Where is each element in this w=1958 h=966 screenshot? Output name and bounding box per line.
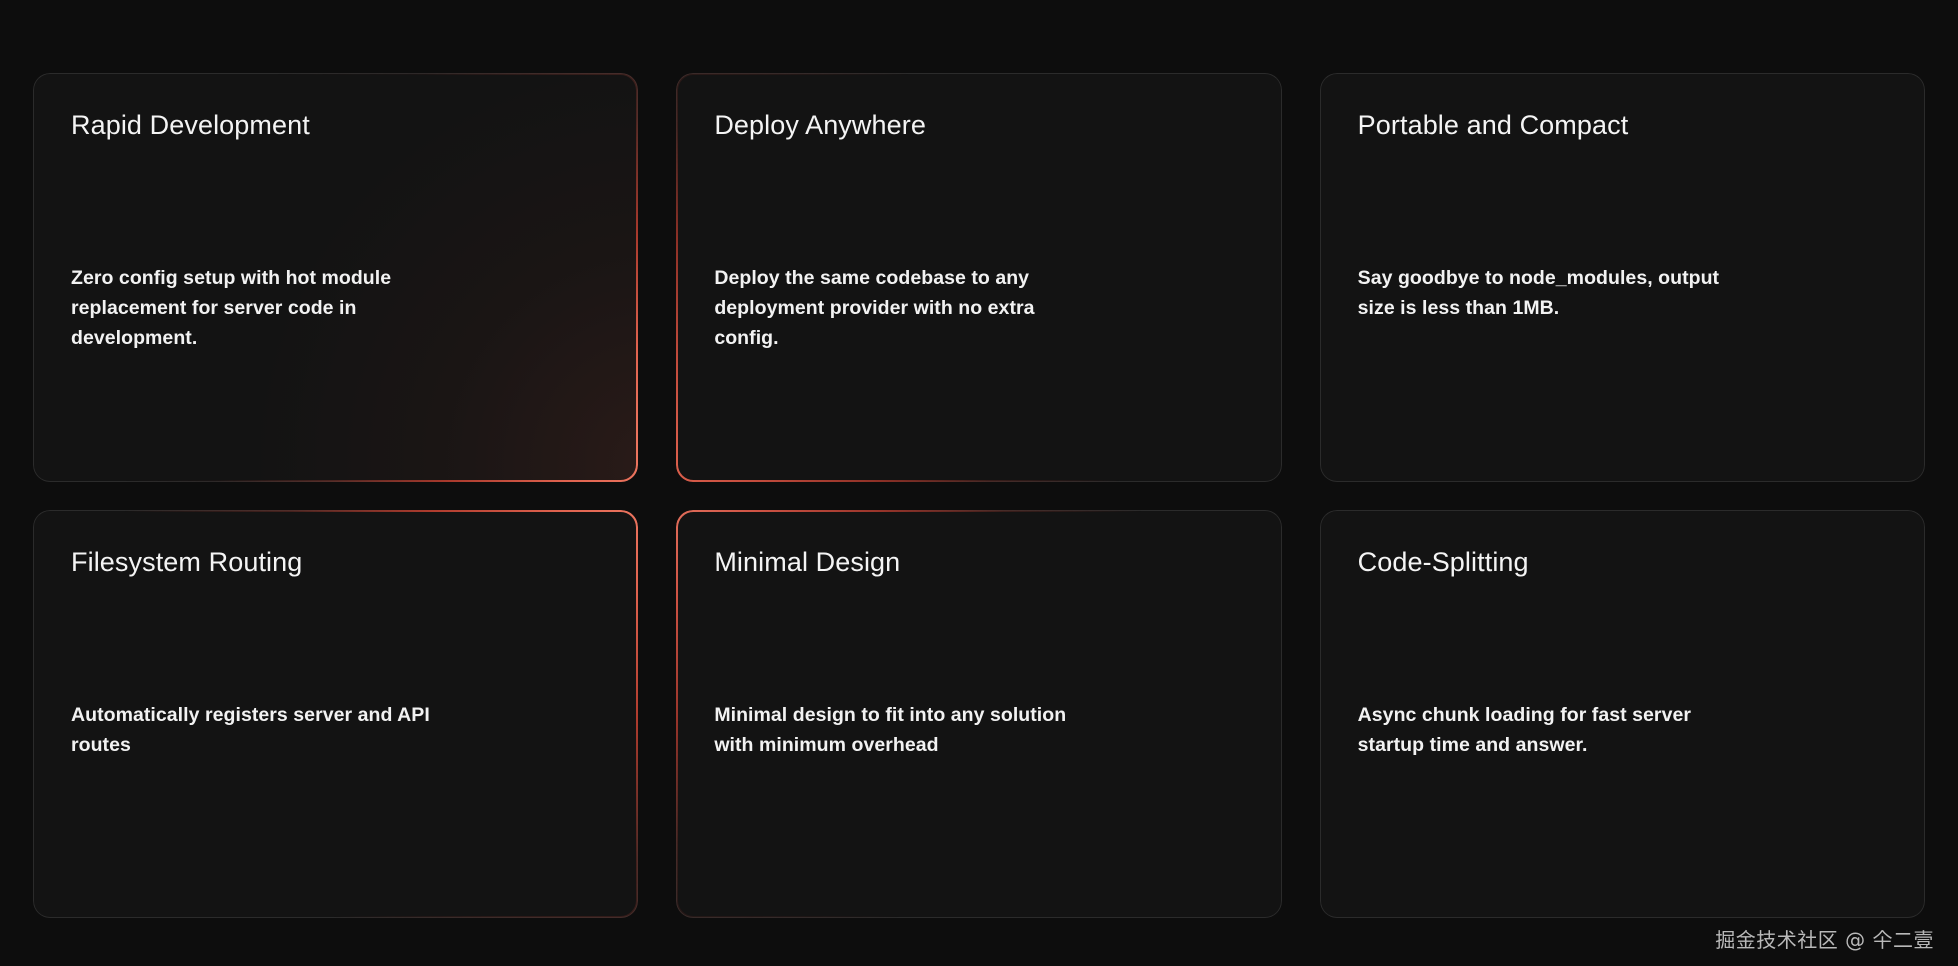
feature-card-deploy-anywhere[interactable]: Deploy Anywhere Deploy the same codebase… xyxy=(676,73,1281,482)
card-title: Deploy Anywhere xyxy=(714,109,1243,141)
card-spacer xyxy=(714,578,1243,700)
card-title: Filesystem Routing xyxy=(71,546,600,578)
card-description: Minimal design to fit into any solution … xyxy=(714,700,1086,760)
card-tail-spacer xyxy=(714,353,1243,451)
card-tail-spacer xyxy=(714,760,1243,888)
feature-card-grid: Rapid Development Zero config setup with… xyxy=(33,73,1925,918)
card-tail-spacer xyxy=(1358,760,1887,888)
card-description: Async chunk loading for fast server star… xyxy=(1358,700,1730,760)
card-description: Automatically registers server and API r… xyxy=(71,700,443,760)
card-spacer xyxy=(1358,141,1887,263)
card-spacer xyxy=(71,578,600,700)
feature-card-portable-and-compact[interactable]: Portable and Compact Say goodbye to node… xyxy=(1320,73,1925,482)
card-tail-spacer xyxy=(71,760,600,888)
card-title: Rapid Development xyxy=(71,109,600,141)
feature-card-filesystem-routing[interactable]: Filesystem Routing Automatically registe… xyxy=(33,510,638,919)
watermark-text: 掘金技术社区 @ 仐二壹 xyxy=(1715,930,1934,950)
card-title: Minimal Design xyxy=(714,546,1243,578)
card-title: Portable and Compact xyxy=(1358,109,1887,141)
card-tail-spacer xyxy=(71,353,600,451)
card-description: Zero config setup with hot module replac… xyxy=(71,263,443,353)
feature-card-minimal-design[interactable]: Minimal Design Minimal design to fit int… xyxy=(676,510,1281,919)
card-description: Deploy the same codebase to any deployme… xyxy=(714,263,1086,353)
card-spacer xyxy=(1358,578,1887,700)
card-spacer xyxy=(71,141,600,263)
card-title: Code-Splitting xyxy=(1358,546,1887,578)
card-tail-spacer xyxy=(1358,323,1887,451)
card-spacer xyxy=(714,141,1243,263)
feature-card-rapid-development[interactable]: Rapid Development Zero config setup with… xyxy=(33,73,638,482)
feature-card-code-splitting[interactable]: Code-Splitting Async chunk loading for f… xyxy=(1320,510,1925,919)
card-description: Say goodbye to node_modules, output size… xyxy=(1358,263,1730,323)
